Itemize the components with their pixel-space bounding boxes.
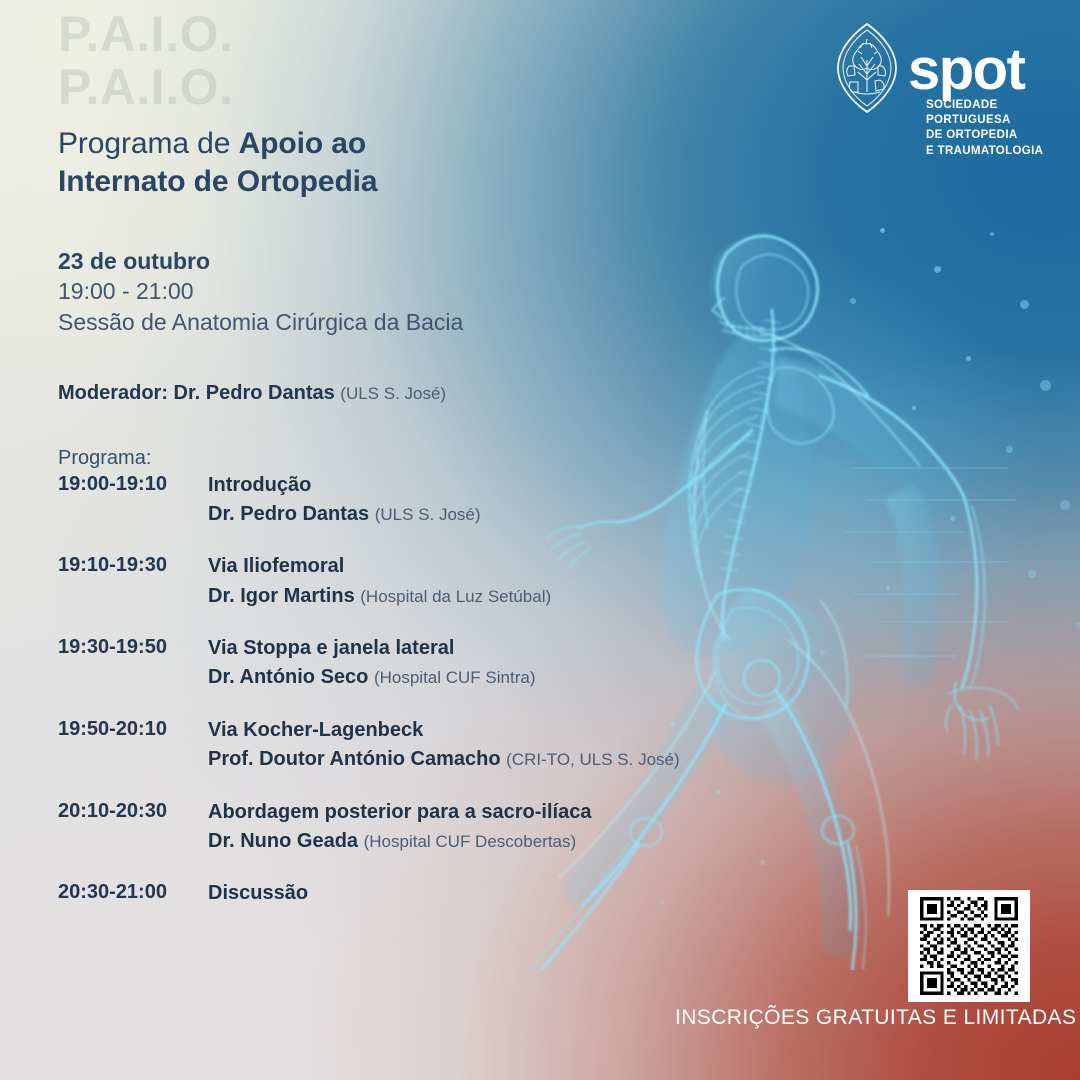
schedule-topic: Via Iliofemoral	[208, 553, 718, 579]
moderator-affiliation: (ULS S. José)	[340, 384, 446, 403]
program-schedule: 19:00-19:10 Introdução Dr. Pedro Dantas …	[58, 472, 718, 907]
schedule-speaker-line: Dr. Nuno Geada (Hospital CUF Descobertas…	[208, 827, 718, 855]
title-bold-1: Apoio ao	[239, 127, 367, 160]
schedule-affiliation: (ULS S. José)	[375, 505, 481, 524]
schedule-row: 19:30-19:50 Via Stoppa e janela lateral …	[58, 635, 718, 692]
poster-canvas: P.A.I.O. P.A.I.O.	[0, 0, 1080, 1080]
schedule-affiliation: (Hospital CUF Descobertas)	[364, 832, 577, 851]
schedule-affiliation: (Hospital da Luz Setúbal)	[360, 587, 551, 606]
schedule-topic: Discussão	[208, 880, 718, 906]
schedule-topic: Introdução	[208, 472, 718, 498]
schedule-row: 20:30-21:00 Discussão	[58, 880, 718, 906]
schedule-body: Discussão	[208, 880, 718, 906]
schedule-affiliation: (CRI-TO, ULS S. José)	[506, 750, 680, 769]
schedule-speaker: Prof. Doutor António Camacho	[208, 748, 501, 770]
schedule-speaker-line: Dr. Pedro Dantas (ULS S. José)	[208, 500, 718, 528]
schedule-body: Introdução Dr. Pedro Dantas (ULS S. José…	[208, 472, 718, 529]
schedule-row: 19:00-19:10 Introdução Dr. Pedro Dantas …	[58, 472, 718, 529]
moderator-label: Moderador: Dr. Pedro Dantas	[58, 382, 335, 404]
schedule-speaker-line: Dr. Igor Martins (Hospital da Luz Setúba…	[208, 582, 718, 610]
schedule-speaker: Dr. Igor Martins	[208, 585, 355, 607]
title-regular: Programa de	[58, 127, 239, 160]
schedule-time: 20:10-20:30	[58, 799, 208, 823]
schedule-speaker: Dr. Pedro Dantas	[208, 503, 369, 525]
schedule-affiliation: (Hospital CUF Sintra)	[374, 668, 536, 687]
schedule-speaker: Dr. António Seco	[208, 666, 368, 688]
tagline-line-1: SOCIEDADE PORTUGUESA	[926, 98, 1076, 128]
schedule-time: 19:00-19:10	[58, 472, 208, 496]
schedule-time: 19:30-19:50	[58, 635, 208, 659]
schedule-body: Via Stoppa e janela lateral Dr. António …	[208, 635, 718, 692]
tagline-line-3: E TRAUMATOLOGIA	[926, 144, 1076, 159]
moderator-line: Moderador: Dr. Pedro Dantas (ULS S. José…	[58, 382, 718, 405]
schedule-time: 20:30-21:00	[58, 880, 208, 904]
event-date: 23 de outubro	[58, 246, 718, 277]
paio-watermark: P.A.I.O. P.A.I.O.	[58, 8, 233, 113]
program-label: Programa:	[58, 447, 718, 470]
schedule-time: 19:10-19:30	[58, 553, 208, 577]
schedule-topic: Via Kocher-Lagenbeck	[208, 717, 718, 743]
schedule-time: 19:50-20:10	[58, 717, 208, 741]
event-time: 19:00 - 21:00	[58, 276, 718, 307]
schedule-speaker-line: Prof. Doutor António Camacho (CRI-TO, UL…	[208, 745, 718, 773]
schedule-body: Via Iliofemoral Dr. Igor Martins (Hospit…	[208, 553, 718, 610]
schedule-speaker: Dr. Nuno Geada	[208, 830, 358, 852]
schedule-speaker-line: Dr. António Seco (Hospital CUF Sintra)	[208, 663, 718, 691]
schedule-row: 19:10-19:30 Via Iliofemoral Dr. Igor Mar…	[58, 553, 718, 610]
schedule-topic: Abordagem posterior para a sacro-ilíaca	[208, 799, 718, 825]
event-details: 23 de outubro 19:00 - 21:00 Sessão de An…	[58, 246, 718, 338]
tagline-line-2: DE ORTOPEDIA	[926, 128, 1076, 143]
qr-code-icon	[915, 897, 1023, 995]
content-column: Programa de Apoio ao Internato de Ortope…	[58, 125, 718, 932]
qr-code[interactable]	[908, 890, 1030, 1002]
page-title: Programa de Apoio ao Internato de Ortope…	[58, 125, 718, 202]
schedule-topic: Via Stoppa e janela lateral	[208, 635, 718, 661]
schedule-row: 19:50-20:10 Via Kocher-Lagenbeck Prof. D…	[58, 717, 718, 774]
spot-wordmark: spot	[908, 42, 1024, 97]
schedule-body: Abordagem posterior para a sacro-ilíaca …	[208, 799, 718, 856]
tree-emblem-icon	[832, 22, 902, 114]
spot-tagline: SOCIEDADE PORTUGUESA DE ORTOPEDIA E TRAU…	[926, 98, 1076, 159]
registration-note: INSCRIÇÕES GRATUITAS E LIMITADAS	[675, 1006, 1076, 1030]
event-session: Sessão de Anatomia Cirúrgica da Bacia	[58, 307, 718, 338]
spot-logo: spot SOCIEDADE PORTUGUESA DE ORTOPEDIA E…	[826, 20, 1076, 142]
schedule-row: 20:10-20:30 Abordagem posterior para a s…	[58, 799, 718, 856]
schedule-body: Via Kocher-Lagenbeck Prof. Doutor Antóni…	[208, 717, 718, 774]
title-bold-2: Internato de Ortopedia	[58, 165, 378, 198]
